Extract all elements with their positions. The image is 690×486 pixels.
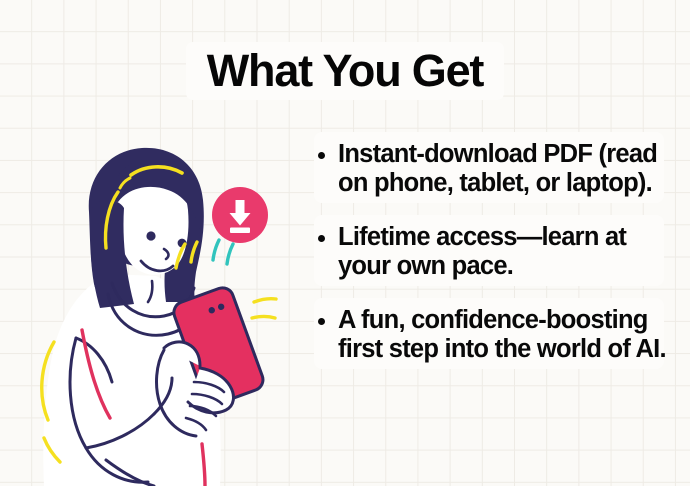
bullet-dot-icon <box>318 152 325 159</box>
bullet-dot-icon <box>318 318 325 325</box>
list-item-text: A fun, confidence-boosting first step in… <box>338 306 668 363</box>
download-badge[interactable] <box>212 187 268 243</box>
page-title: What You Get <box>186 42 504 100</box>
bullet-dot-icon <box>318 235 325 242</box>
slide-canvas: What You Get <box>0 0 690 486</box>
download-icon <box>212 187 268 243</box>
list-item: A fun, confidence-boosting first step in… <box>318 306 668 363</box>
benefits-list: Instant-download PDF (read on phone, tab… <box>318 140 668 389</box>
list-item: Lifetime access—learn at your own pace. <box>318 223 668 280</box>
list-item-text: Instant-download PDF (read on phone, tab… <box>338 140 668 197</box>
list-item: Instant-download PDF (read on phone, tab… <box>318 140 668 197</box>
title-background-box: What You Get <box>186 42 504 100</box>
list-item-text: Lifetime access—learn at your own pace. <box>338 223 668 280</box>
